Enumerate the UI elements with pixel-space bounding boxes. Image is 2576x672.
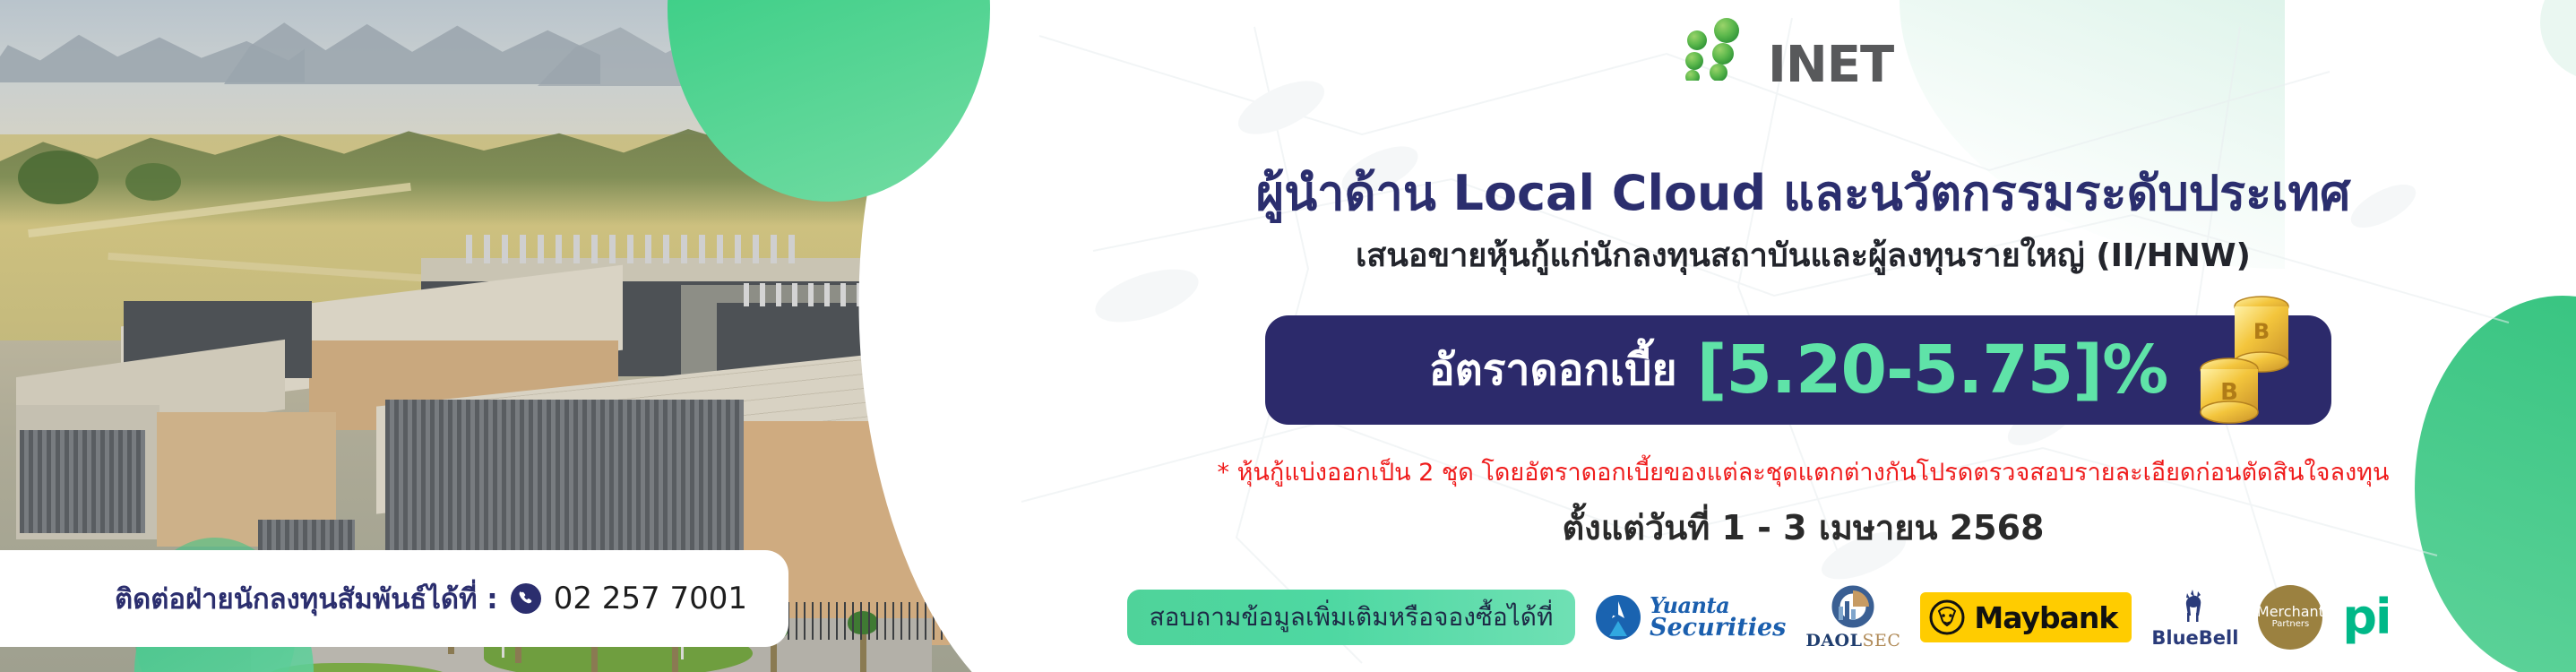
interest-rate-label: อัตราดอกเบี้ย: [1429, 336, 1677, 404]
content-area: INET ผู้นำด้าน Local Cloud และนวัตกรรมระ…: [1030, 0, 2576, 672]
rooftop-equipment: [466, 235, 806, 263]
partner-logo-bluebell[interactable]: BlueBell: [2151, 582, 2238, 652]
daol-line2: SEC: [1862, 631, 1900, 650]
inet-logo: INET: [1662, 16, 1949, 81]
partner-logo-yuanta[interactable]: Yuanta Securities: [1595, 582, 1786, 652]
inet-bubbles-icon: [1662, 16, 1770, 81]
offer-date-range: ตั้งแต่วันที่ 1 - 3 เมษายน 2568: [1030, 500, 2576, 555]
merchant-line1: Merchant: [2257, 605, 2324, 619]
svg-text:B: B: [2220, 379, 2238, 406]
daol-pie-icon: [1828, 585, 1878, 628]
interest-rate-box: อัตราดอกเบี้ย [5.20-5.75]% B: [1265, 315, 2331, 425]
daol-line1: DAOL: [1805, 631, 1862, 650]
partner-logo-daol[interactable]: DAOLSEC: [1805, 582, 1900, 652]
subheadline: เสนอขายหุ้นกู้แก่นักลงทุนสถาบันและผู้ลงท…: [1030, 229, 2576, 280]
partners-row: สอบถามข้อมูลเพิ่มเติมหรือจองซื้อได้ที่: [1127, 581, 2561, 654]
contact-phone-number: 02 257 7001: [554, 581, 747, 616]
phone-glyph: [517, 590, 535, 607]
promotional-banner: INET ผู้นำด้าน Local Cloud และนวัตกรรมระ…: [0, 0, 2576, 672]
pi-wordmark-icon: pi: [2342, 597, 2390, 638]
yuanta-line2: Securities: [1650, 616, 1786, 640]
maybank-tiger-icon: [1929, 599, 1965, 635]
interest-rate-value: [5.20-5.75]%: [1697, 332, 2168, 409]
svg-text:B: B: [2253, 319, 2270, 344]
phone-icon: [511, 583, 541, 614]
daol-wordmark: DAOLSEC: [1805, 631, 1900, 650]
field-tree: [125, 163, 181, 201]
office-louvers: [20, 430, 145, 533]
investor-relations-contact-card: ติดต่อฝ่ายนักลงทุนสัมพันธ์ได้ที่ : 02 25…: [0, 550, 788, 647]
cta-inquiry-button[interactable]: สอบถามข้อมูลเพิ่มเติมหรือจองซื้อได้ที่: [1127, 590, 1575, 645]
partner-logo-merchant-partners[interactable]: Merchant Partners: [2258, 582, 2322, 652]
partner-logo-maybank[interactable]: Maybank: [1920, 582, 2132, 652]
bluebell-deer-icon: [2175, 586, 2216, 625]
footnote-disclaimer: * หุ้นกู้แบ่งออกเป็น 2 ชุด โดยอัตราดอกเบ…: [1030, 452, 2576, 491]
gold-coins-icon: B B: [2190, 283, 2306, 425]
partner-logo-pi[interactable]: pi: [2342, 582, 2390, 652]
inet-logo-text: INET: [1768, 36, 1893, 94]
maybank-wordmark: Maybank: [1974, 600, 2117, 635]
contact-label: ติดต่อฝ่ายนักลงทุนสัมพันธ์ได้ที่ :: [115, 576, 498, 621]
maybank-badge: Maybank: [1920, 592, 2132, 642]
headline: ผู้นำด้าน Local Cloud และนวัตกรรมระดับปร…: [1030, 154, 2576, 231]
yuanta-star-icon: [1595, 594, 1641, 641]
yuanta-wordmark: Yuanta Securities: [1650, 596, 1786, 639]
merchant-line2: Partners: [2272, 619, 2310, 630]
field-tree: [18, 151, 99, 204]
bluebell-wordmark: BlueBell: [2151, 627, 2238, 649]
merchant-circle-icon: Merchant Partners: [2258, 585, 2322, 650]
